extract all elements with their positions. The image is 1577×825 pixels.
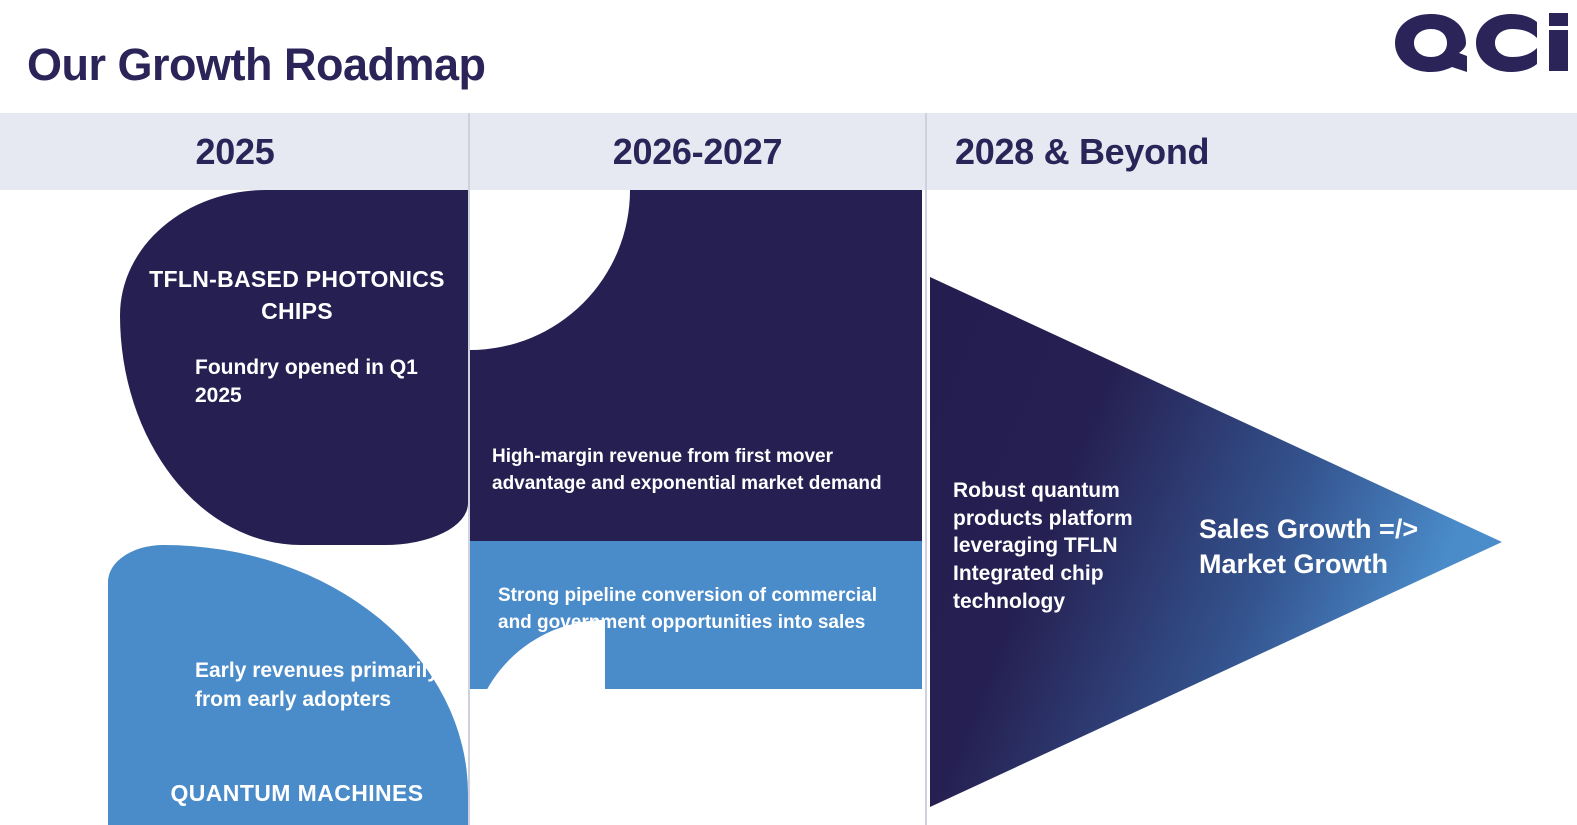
column-header-2028-beyond: 2028 & Beyond xyxy=(955,113,1555,190)
column-header-2025: 2025 xyxy=(0,113,470,190)
col1-blue-heading: QUANTUM MACHINES xyxy=(132,780,462,807)
col3-arrow-center-text: Sales Growth =/> Market Growth xyxy=(1199,512,1499,582)
col1-navy-heading: TFLN-BASED PHOTONICS CHIPS xyxy=(132,264,462,327)
col2-navy-body: High-margin revenue from first mover adv… xyxy=(492,444,917,498)
page-title: Our Growth Roadmap xyxy=(27,40,486,90)
col2-blue-body: Strong pipeline conversion of commercial… xyxy=(498,583,913,637)
column-divider-2 xyxy=(925,113,927,825)
timeline-header-band: 2025 2026-2027 2028 & Beyond xyxy=(0,113,1577,190)
col1-navy-body: Foundry opened in Q1 2025 xyxy=(195,354,460,411)
column-header-2026-2027: 2026-2027 xyxy=(470,113,925,190)
col3-arrow-left-text: Robust quantum products platform leverag… xyxy=(953,477,1168,616)
roadmap-slide: Our Growth Roadmap 2025 2026-2027 2028 &… xyxy=(0,0,1577,825)
col1-blue-body: Early revenues primarily from early adop… xyxy=(195,657,445,715)
qci-logo xyxy=(1391,12,1577,74)
